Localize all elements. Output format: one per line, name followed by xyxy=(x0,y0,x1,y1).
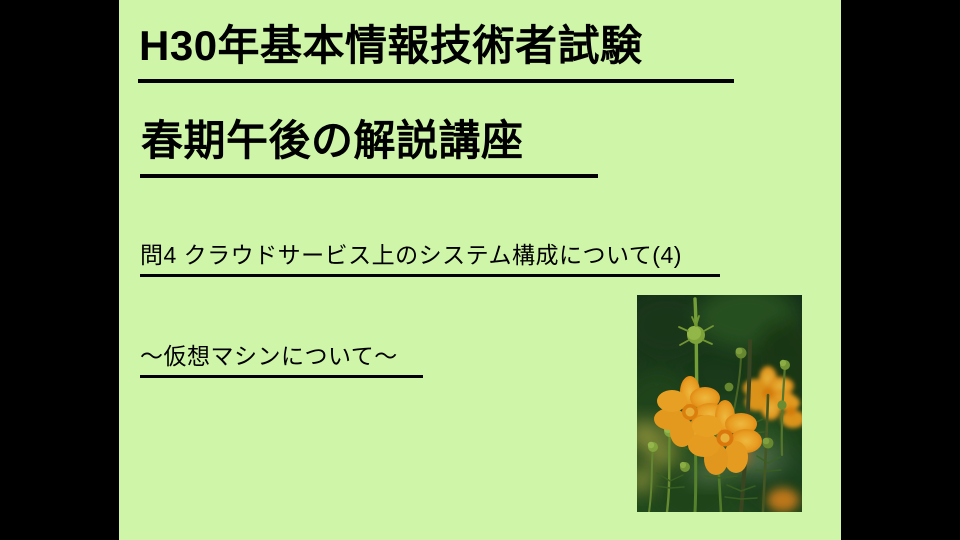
flower-photo xyxy=(637,295,802,512)
title-line-2-underline xyxy=(140,174,598,178)
slide-root: H30年基本情報技術者試験 春期午後の解説講座 問4 クラウドサービス上のシステ… xyxy=(0,0,960,540)
title-line-1-underline xyxy=(138,79,734,83)
subtitle-line-underline xyxy=(140,274,720,277)
flower-photo-graphic xyxy=(637,295,802,512)
topic-line: 〜仮想マシンについて〜 xyxy=(140,345,398,368)
letterbox-left xyxy=(0,0,119,540)
subtitle-line: 問4 クラウドサービス上のシステム構成について(4) xyxy=(140,244,682,267)
topic-line-underline xyxy=(140,375,423,378)
slide-canvas: H30年基本情報技術者試験 春期午後の解説講座 問4 クラウドサービス上のシステ… xyxy=(119,0,841,540)
title-line-1: H30年基本情報技術者試験 xyxy=(139,25,643,67)
title-line-2: 春期午後の解説講座 xyxy=(141,120,524,162)
letterbox-right xyxy=(841,0,960,540)
